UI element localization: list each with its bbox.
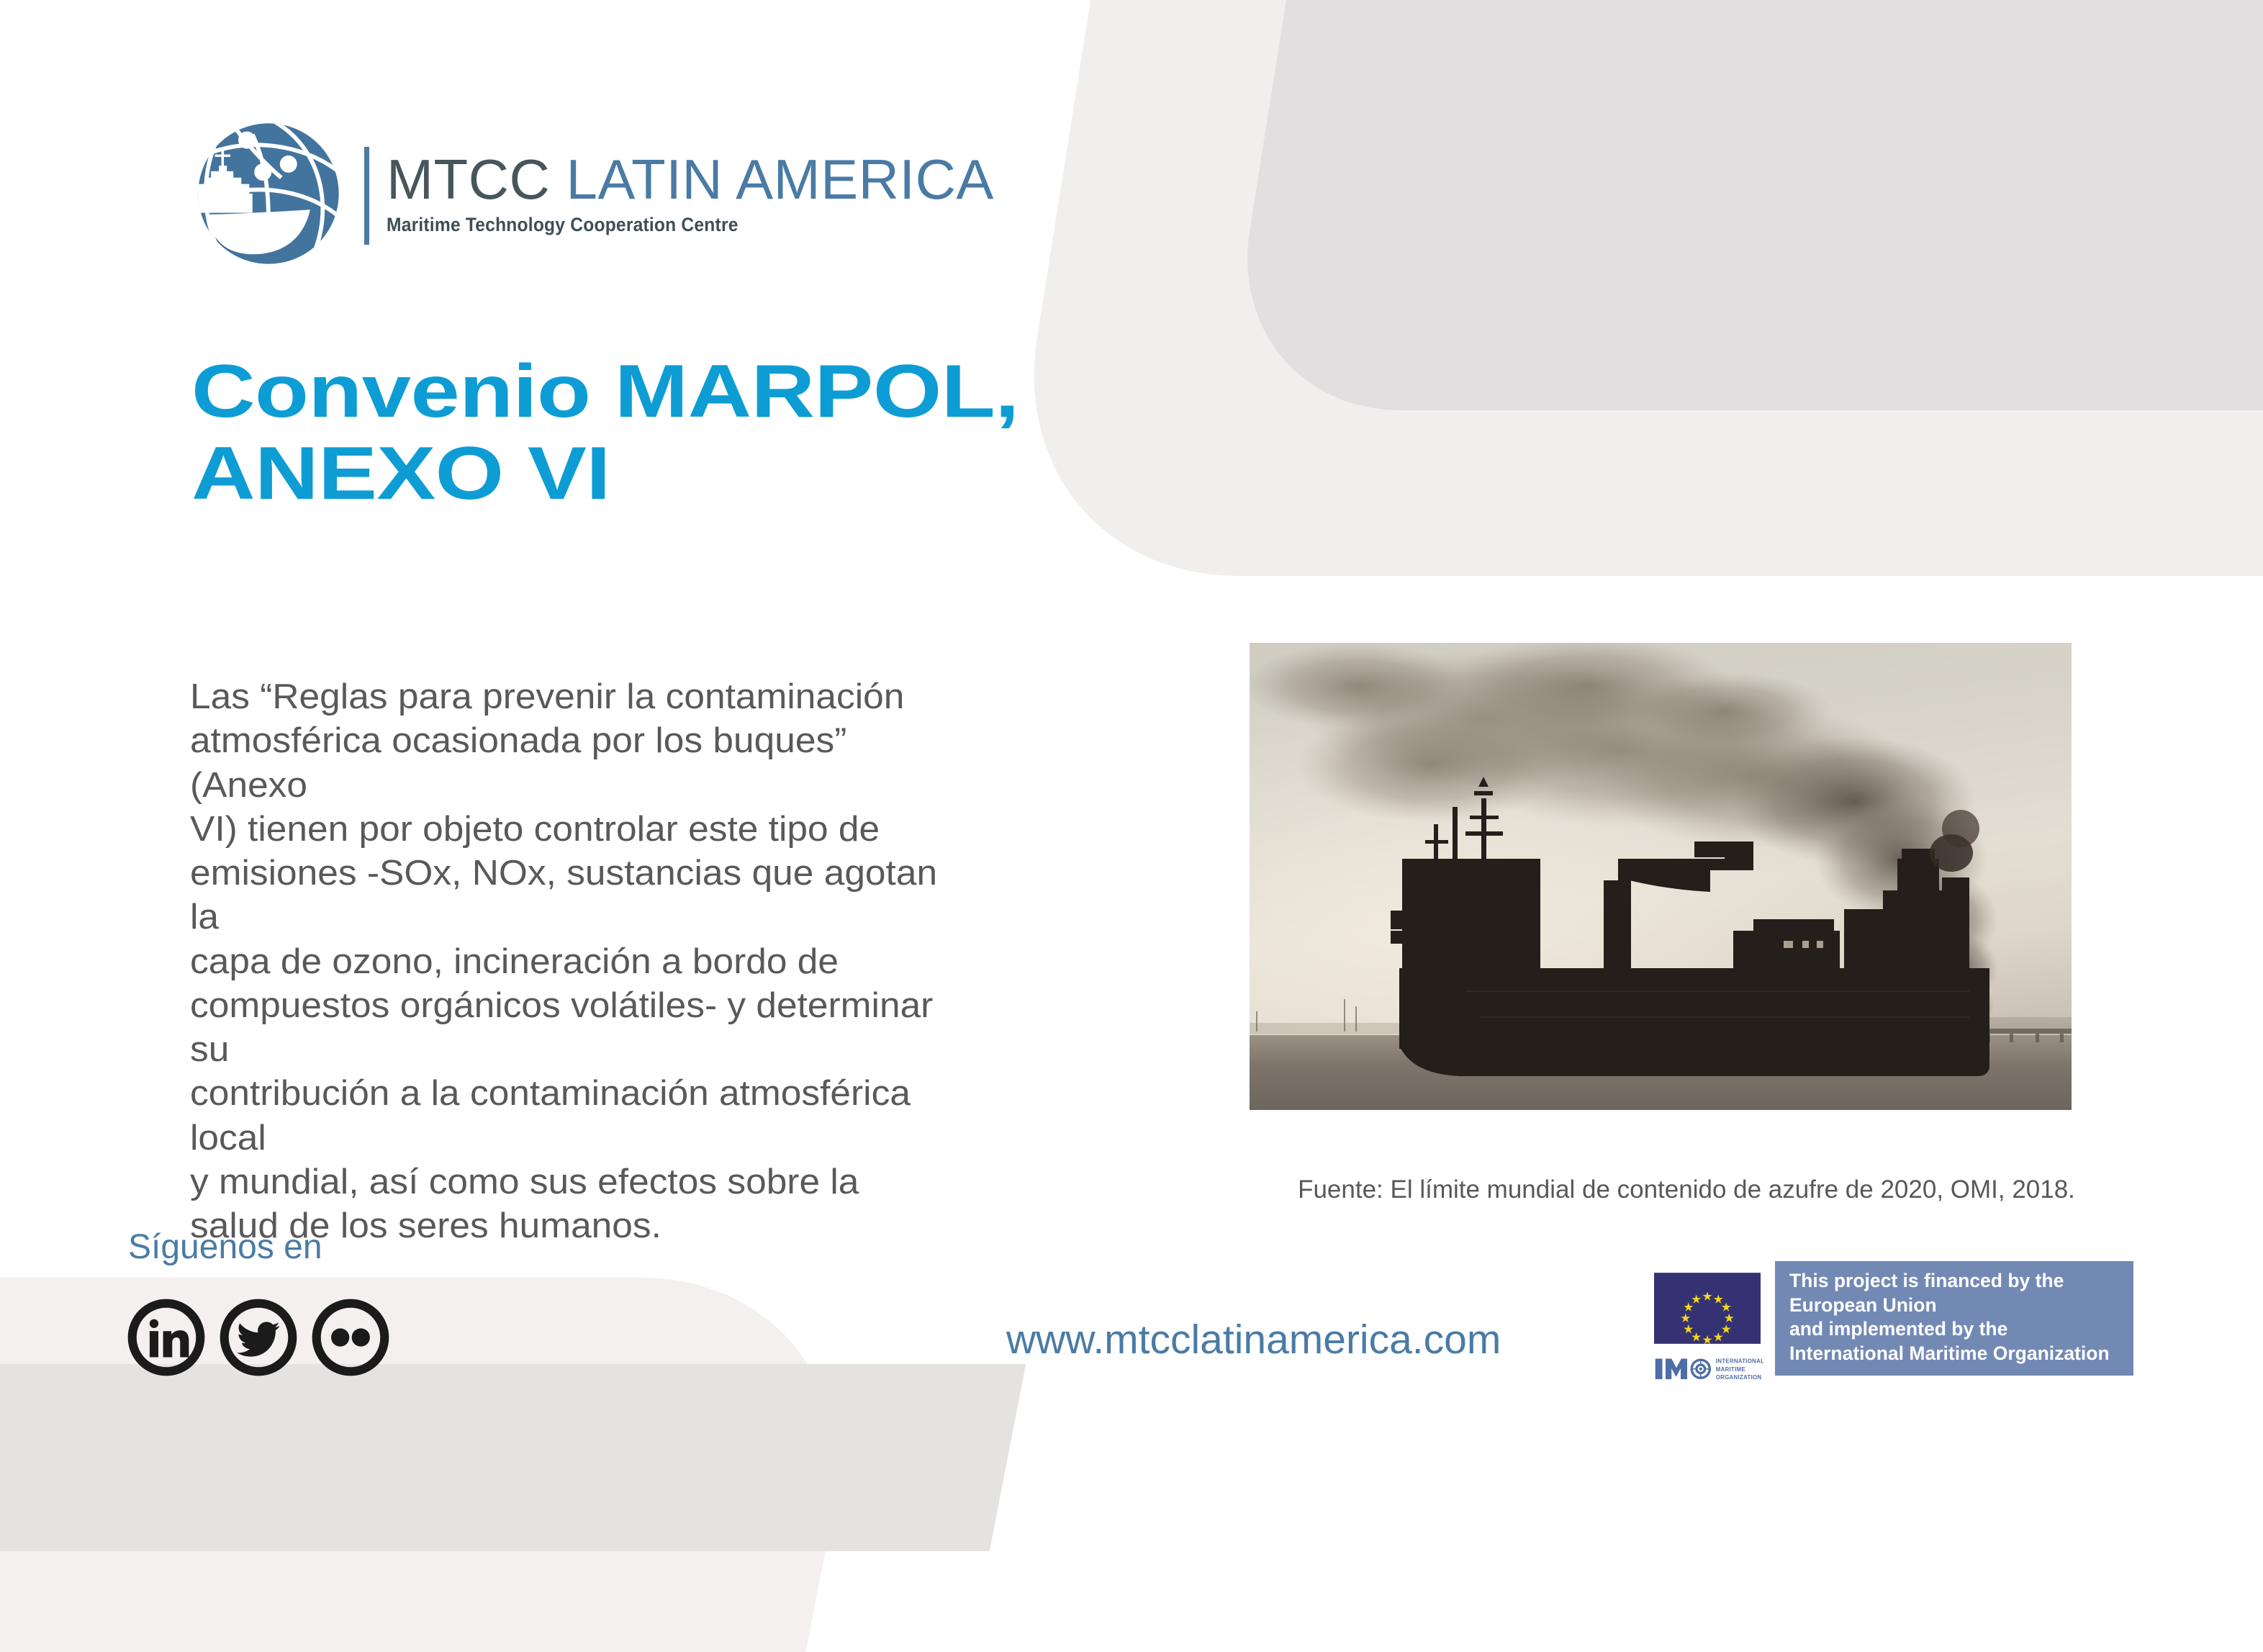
imo-text-line1: INTERNATIONAL [1716, 1358, 1763, 1365]
page-title: Convenio MARPOL, ANEXO VI [191, 351, 1019, 515]
linkedin-icon[interactable] [127, 1298, 206, 1377]
european-union-flag-icon [1654, 1273, 1761, 1344]
logo-title-mtcc: MTCC [387, 148, 550, 211]
social-links [127, 1298, 390, 1377]
photo-caption: Fuente: El límite mundial de contenido d… [1291, 1175, 2082, 1204]
logo-title: MTCC LATIN AMERICA [387, 151, 994, 207]
imo-text-line3: ORGANIZATION [1716, 1374, 1762, 1381]
logo-tagline: Maritime Technology Cooperation Centre [387, 214, 952, 236]
bottom-left-shape-inner [0, 1364, 1026, 1551]
imo-text-line2: MARITIME [1716, 1366, 1745, 1373]
ship-photo-graphic [1250, 643, 2072, 1110]
globe-ship-icon [189, 114, 348, 274]
logo-divider [364, 147, 369, 245]
twitter-icon[interactable] [219, 1298, 298, 1377]
website-url[interactable]: www.mtcclatinamerica.com [1006, 1316, 1501, 1363]
body-paragraph: Las “Reglas para prevenir la contaminaci… [190, 675, 946, 1248]
funding-statement: This project is financed by the European… [1775, 1261, 2133, 1376]
logo-title-latin-america: LATIN AMERICA [566, 148, 994, 211]
imo-logo-icon: INTERNATIONAL MARITIME ORGANIZATION [1654, 1353, 1763, 1384]
follow-us-label: Síguenos en [128, 1227, 322, 1267]
funding-banner: INTERNATIONAL MARITIME ORGANIZATION This… [1654, 1261, 2133, 1384]
top-right-shape-inner [1221, 0, 2263, 410]
brand-logo: MTCC LATIN AMERICA Maritime Technology C… [189, 114, 994, 274]
top-right-shape-outer [999, 0, 2263, 576]
flickr-icon[interactable] [311, 1298, 390, 1377]
ship-photo [1250, 643, 2072, 1110]
funding-logos: INTERNATIONAL MARITIME ORGANIZATION [1654, 1261, 1768, 1384]
